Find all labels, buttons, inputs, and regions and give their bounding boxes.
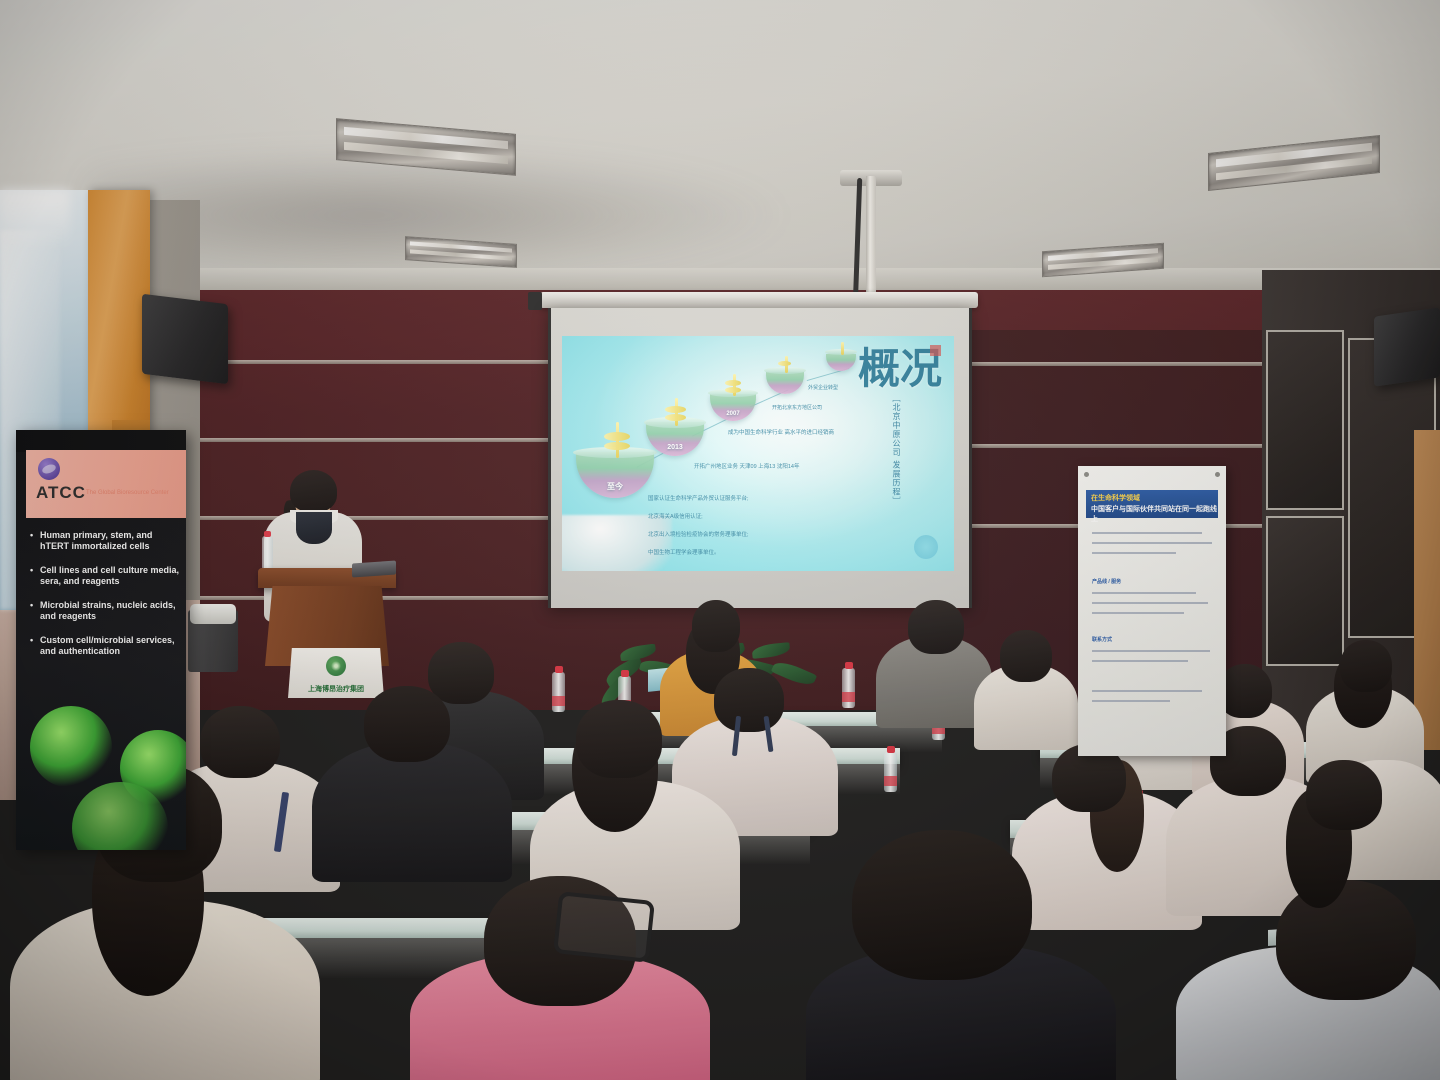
sprout-icon — [724, 374, 743, 396]
slide-subtitle: ［北京中原公司 发展历程］ — [891, 394, 902, 505]
cell-graphic — [30, 706, 112, 788]
trash-bin-liner — [190, 604, 236, 624]
atcc-header: ATCC The Global Bioresource Center — [26, 450, 186, 518]
wall-panel — [1266, 330, 1344, 510]
sprout-stem — [841, 342, 844, 355]
bowl-graphic — [766, 372, 804, 394]
slide-bullet: 北京海关A级信用认证; — [648, 512, 703, 520]
timeline-step: 2007 — [710, 394, 756, 421]
poster-pin — [1084, 472, 1089, 477]
water-bottle — [842, 668, 855, 708]
timeline-step: 2013 — [646, 422, 704, 456]
wall-speaker-left — [142, 294, 228, 385]
company-circle-logo-icon — [914, 535, 938, 559]
timeline-step — [826, 354, 856, 371]
step-year: 2013 — [646, 444, 704, 451]
sprout-icon — [778, 356, 793, 373]
banner-top-rail — [16, 430, 186, 452]
slide-stamp-icon — [930, 345, 941, 356]
poster-headline-1: 在生命科学领域 — [1091, 493, 1140, 503]
presenter-hair — [290, 470, 337, 512]
bowl-graphic — [826, 354, 856, 371]
atcc-bullet: Cell lines and cell culture media, sera,… — [30, 565, 180, 587]
presentation-slide: 至今 2013 2007 — [562, 336, 954, 571]
right-wood-trim — [1414, 430, 1440, 750]
sprout-icon — [836, 342, 848, 355]
wall-panel — [1266, 516, 1344, 666]
sprout-leaf — [665, 414, 686, 421]
atcc-bullet: Human primary, stem, and hTERT immortali… — [30, 530, 180, 552]
sprout-leaf — [725, 387, 741, 393]
conference-room-photo: 至今 2013 2007 — [0, 0, 1440, 1080]
step-year: 2007 — [710, 411, 756, 417]
window-glare — [0, 190, 70, 250]
water-bottle — [552, 672, 565, 712]
atcc-wordmark: ATCC — [36, 483, 86, 503]
wall-seam — [192, 360, 552, 364]
step-caption: 外贸企业转型 — [808, 384, 838, 391]
sprout-icon — [664, 398, 688, 426]
timeline-step: 至今 — [576, 452, 654, 498]
information-poster: 在生命科学领域 中国客户与国际伙伴共同站在同一起跑线上 产品线 / 服务 联系方… — [1078, 466, 1226, 756]
step-caption: 开拓北京东方地区公司 — [772, 404, 822, 411]
atcc-tagline: The Global Bioresource Center — [86, 490, 169, 496]
sprout-leaf — [665, 406, 686, 413]
poster-section-heading: 产品线 / 服务 — [1092, 578, 1121, 585]
timeline-step — [766, 372, 804, 394]
slide-rock-graphic — [562, 515, 672, 571]
screen-housing-cap — [528, 292, 542, 310]
wall-seam — [972, 362, 1272, 366]
slide-bullet: 国家认证生命科学产品外贸认证服务平台; — [648, 494, 749, 502]
ceiling — [0, 0, 1440, 300]
poster-headline-band: 在生命科学领域 中国客户与国际伙伴共同站在同一起跑线上 — [1086, 490, 1218, 518]
podium-sign-text: 上海博昂治疗集团 — [288, 684, 384, 694]
step-caption: 开拓广州地区业务 天津09 上海13 沈阳14年 — [694, 462, 799, 470]
poster-headline-2: 中国客户与国际伙伴共同站在同一起跑线上 — [1091, 504, 1218, 524]
atcc-banner: ATCC The Global Bioresource Center Human… — [16, 430, 186, 850]
podium-sign: 上海博昂治疗集团 — [288, 648, 384, 698]
sprout-icon — [602, 422, 632, 458]
water-bottle — [884, 752, 897, 792]
water-bottle — [262, 536, 273, 570]
poster-pin — [1215, 472, 1220, 477]
wall-speaker-right — [1374, 307, 1440, 386]
projector-pole — [866, 176, 876, 306]
screen-roller-housing — [540, 292, 978, 308]
step-year: 至今 — [576, 481, 654, 492]
sprout-leaf — [725, 380, 741, 386]
presenter-scarf — [296, 512, 332, 544]
step-caption: 成为中国生命科学行业 高水平的进口经销商 — [728, 428, 834, 436]
sprout-leaf — [604, 442, 630, 450]
slide-bullet: 中国生物工程学会理事单位。 — [648, 548, 720, 556]
atcc-globe-icon — [38, 458, 60, 480]
sprout-leaf — [604, 432, 630, 441]
eyeglasses-icon — [553, 891, 655, 963]
atcc-bullet-list: Human primary, stem, and hTERT immortali… — [30, 530, 180, 670]
poster-section-heading: 联系方式 — [1092, 636, 1112, 643]
atcc-bullet: Custom cell/microbial services, and auth… — [30, 635, 180, 657]
slide-bullet: 北京出入境检验检疫协会的常务理事单位; — [648, 530, 749, 538]
green-circle-logo-icon — [326, 656, 346, 676]
wall-seam — [972, 444, 1272, 448]
sprout-leaf — [778, 361, 791, 366]
wall-seam — [192, 516, 552, 520]
wall-seam — [192, 438, 552, 442]
atcc-bullet: Microbial strains, nucleic acids, and re… — [30, 600, 180, 622]
